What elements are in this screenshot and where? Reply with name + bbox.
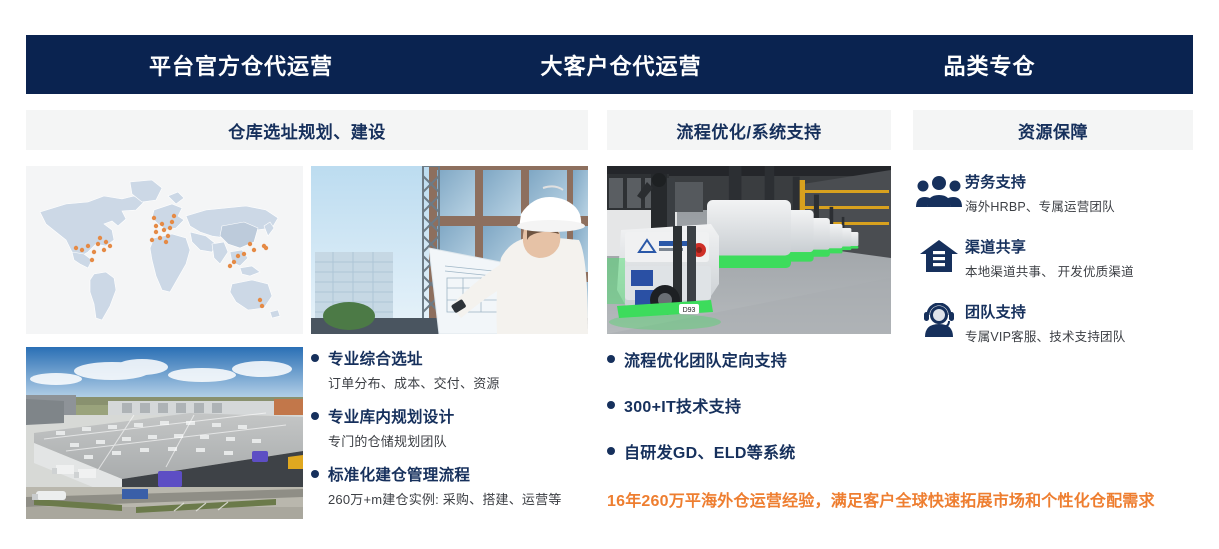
section-header-middle-label: 流程优化/系统支持 xyxy=(676,118,821,143)
top-category-1: 平台官方仓代运营 xyxy=(26,49,456,81)
bullet-title-row: 标准化建仓管理流程 xyxy=(311,463,596,485)
bullet-dot-icon xyxy=(311,354,319,362)
resource-row: 渠道共享 本地渠道共事、 开发优质渠道 xyxy=(913,235,1195,280)
resource-subtitle: 海外HRBP、专属运营团队 xyxy=(965,196,1115,215)
resource-text: 团队支持 专属VIP客服、技术支持团队 xyxy=(965,300,1125,345)
bullet-dot-icon xyxy=(607,447,615,455)
bullet-dot-icon xyxy=(311,412,319,420)
construction-engineer-photo xyxy=(311,166,588,334)
bullet-item: 自研发GD、ELD等系统 xyxy=(607,439,907,463)
bullet-title-row: 流程优化团队定向支持 xyxy=(607,347,907,371)
agv-photo-svg: D93 xyxy=(607,166,891,334)
bullet-item: 300+IT技术支持 xyxy=(607,393,907,417)
section-header-process-optimization: 流程优化/系统支持 xyxy=(607,110,891,150)
bullet-title: 标准化建仓管理流程 xyxy=(328,463,470,485)
bullet-dot-icon xyxy=(607,401,615,409)
resource-text: 劳务支持 海外HRBP、专属运营团队 xyxy=(965,170,1115,215)
bullet-title-row: 专业库内规划设计 xyxy=(311,405,596,427)
resource-title: 劳务支持 xyxy=(965,171,1115,192)
bullet-title: 自研发GD、ELD等系统 xyxy=(624,439,796,463)
section-header-warehouse-siting: 仓库选址规划、建设 xyxy=(26,110,588,150)
warehouse-shelf-icon-svg xyxy=(919,238,959,276)
bullet-title: 300+IT技术支持 xyxy=(624,393,741,417)
agv-robot-fleet-photo: D93 xyxy=(607,166,891,334)
bullet-dot-icon xyxy=(311,470,319,478)
warehouse-siting-bullets: 专业综合选址 订单分布、成本、交付、资源 专业库内规划设计 专门的仓储规划团队 … xyxy=(311,347,596,508)
bullet-subtitle: 专门的仓储规划团队 xyxy=(328,431,596,450)
section-header-left-label: 仓库选址规划、建设 xyxy=(228,118,386,143)
bullet-item: 标准化建仓管理流程 260万+m建仓实例: 采购、搭建、运营等 xyxy=(311,463,596,508)
warehouse-photo-svg xyxy=(26,347,303,519)
warehouse-shelf-icon xyxy=(913,235,965,279)
slide-root: 平台官方仓代运营 大客户仓代运营 品类专仓 仓库选址规划、建设 流程优化/系统支… xyxy=(0,0,1219,549)
bullet-title: 专业库内规划设计 xyxy=(328,405,454,427)
orange-footnote: 16年260万平海外仓运营经验，满足客户全球快速拓展市场和个性化仓配需求 xyxy=(607,487,1155,511)
bullet-title: 专业综合选址 xyxy=(328,347,423,369)
resource-subtitle: 专属VIP客服、技术支持团队 xyxy=(965,326,1125,345)
bullet-item: 专业库内规划设计 专门的仓储规划团队 xyxy=(311,405,596,450)
worker-photo-svg xyxy=(311,166,588,334)
bullet-title-row: 300+IT技术支持 xyxy=(607,393,907,417)
resource-title: 团队支持 xyxy=(965,301,1125,322)
headset-support-icon xyxy=(913,300,965,344)
people-group-icon xyxy=(913,170,965,214)
bullet-subtitle: 订单分布、成本、交付、资源 xyxy=(328,373,596,392)
bullet-title-row: 专业综合选址 xyxy=(311,347,596,369)
top-category-3: 品类专仓 xyxy=(786,49,1193,81)
resource-row: 团队支持 专属VIP客服、技术支持团队 xyxy=(913,300,1195,345)
resource-title: 渠道共享 xyxy=(965,236,1134,257)
resource-subtitle: 本地渠道共事、 开发优质渠道 xyxy=(965,261,1134,280)
resource-row: 劳务支持 海外HRBP、专属运营团队 xyxy=(913,170,1195,215)
top-category-2: 大客户仓代运营 xyxy=(456,49,786,81)
world-map-image xyxy=(26,166,303,334)
headset-support-icon-svg xyxy=(919,303,959,341)
bullet-item: 专业综合选址 订单分布、成本、交付、资源 xyxy=(311,347,596,392)
process-optimization-bullets: 流程优化团队定向支持 300+IT技术支持 自研发GD、ELD等系统 xyxy=(607,347,907,485)
section-header-resource-guarantee: 资源保障 xyxy=(913,110,1193,150)
people-group-icon-svg xyxy=(916,175,962,209)
top-category-bar: 平台官方仓代运营 大客户仓代运营 品类专仓 xyxy=(26,35,1193,94)
bullet-subtitle: 260万+m建仓实例: 采购、搭建、运营等 xyxy=(328,489,596,508)
bullet-title-row: 自研发GD、ELD等系统 xyxy=(607,439,907,463)
bullet-title: 流程优化团队定向支持 xyxy=(624,347,787,371)
bullet-item: 流程优化团队定向支持 xyxy=(607,347,907,371)
section-header-right-label: 资源保障 xyxy=(1018,118,1088,143)
resource-guarantee-list: 劳务支持 海外HRBP、专属运营团队 渠道共享 本地渠道共事、 开发优质渠道 xyxy=(913,170,1195,345)
warehouse-aerial-photo xyxy=(26,347,303,519)
svg-text:D93: D93 xyxy=(683,307,696,314)
resource-text: 渠道共享 本地渠道共事、 开发优质渠道 xyxy=(965,235,1134,280)
world-map-svg xyxy=(26,166,303,334)
bullet-dot-icon xyxy=(607,355,615,363)
